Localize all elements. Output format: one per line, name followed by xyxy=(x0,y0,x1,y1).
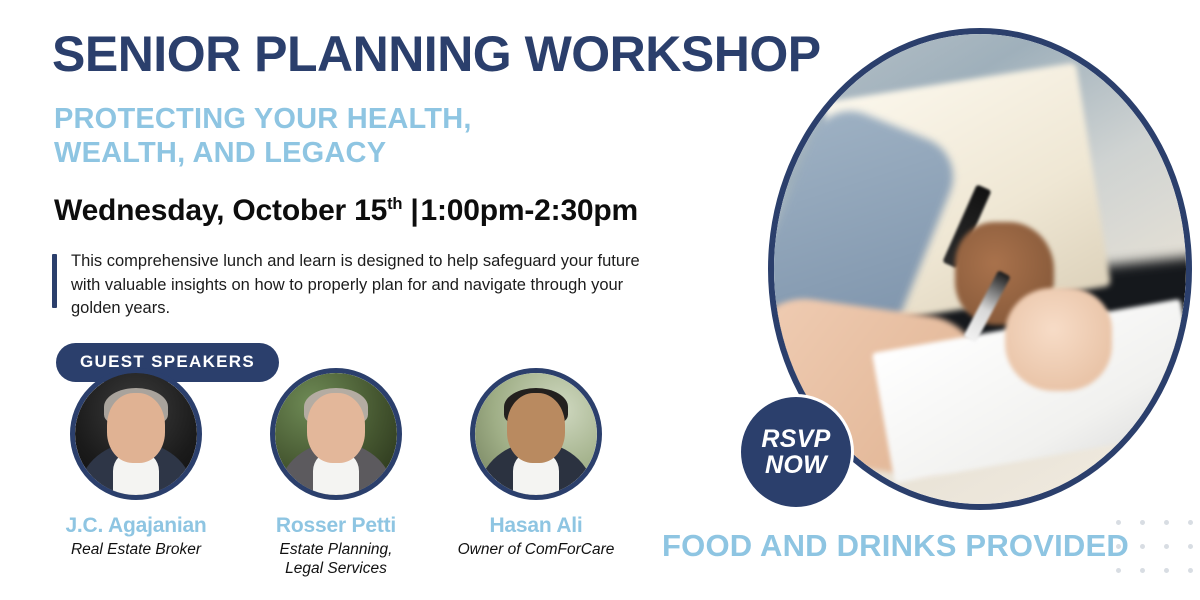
event-datetime: Wednesday, October 15th|1:00pm-2:30pm xyxy=(54,194,742,228)
rsvp-now-button[interactable]: RSVP NOW xyxy=(738,394,854,510)
subtitle-line-1: PROTECTING YOUR HEALTH, xyxy=(54,103,472,135)
speaker-name: Rosser Petti xyxy=(236,514,436,538)
speaker-name: J.C. Agajanian xyxy=(36,514,236,538)
speaker-card: J.C. Agajanian Real Estate Broker xyxy=(36,368,236,579)
speaker-card: Hasan Ali Owner of ComForCare xyxy=(436,368,636,579)
speaker-avatar xyxy=(70,368,202,500)
event-date: Wednesday, October 15 xyxy=(54,194,387,227)
rsvp-line-1: RSVP xyxy=(761,426,830,453)
speaker-avatar xyxy=(270,368,402,500)
speaker-role: Estate Planning, Legal Services xyxy=(236,541,436,579)
description-block: This comprehensive lunch and learn is de… xyxy=(52,250,742,320)
page-title: SENIOR PLANNING WORKSHOP xyxy=(52,28,742,80)
rsvp-line-2: NOW xyxy=(765,452,827,479)
speakers-list: J.C. Agajanian Real Estate Broker Rosser… xyxy=(36,368,656,579)
date-ordinal-suffix: th xyxy=(387,195,402,213)
speaker-role: Owner of ComForCare xyxy=(436,541,636,560)
speaker-card: Rosser Petti Estate Planning, Legal Serv… xyxy=(236,368,436,579)
speaker-name: Hasan Ali xyxy=(436,514,636,538)
event-time: 1:00pm-2:30pm xyxy=(421,194,638,227)
accent-bar xyxy=(52,254,57,308)
subtitle: PROTECTING YOUR HEALTH, WEALTH, AND LEGA… xyxy=(54,102,742,170)
decorative-dot-grid-icon xyxy=(1116,520,1200,592)
speaker-avatar xyxy=(470,368,602,500)
left-content-column: SENIOR PLANNING WORKSHOP PROTECTING YOUR… xyxy=(52,28,742,382)
speaker-role: Real Estate Broker xyxy=(36,541,236,560)
subtitle-line-2: WEALTH, AND LEGACY xyxy=(54,136,742,170)
datetime-separator: | xyxy=(402,194,420,228)
food-and-drinks-note: FOOD AND DRINKS PROVIDED xyxy=(662,528,1129,564)
event-description: This comprehensive lunch and learn is de… xyxy=(71,250,641,320)
event-flyer: SENIOR PLANNING WORKSHOP PROTECTING YOUR… xyxy=(0,0,1200,600)
